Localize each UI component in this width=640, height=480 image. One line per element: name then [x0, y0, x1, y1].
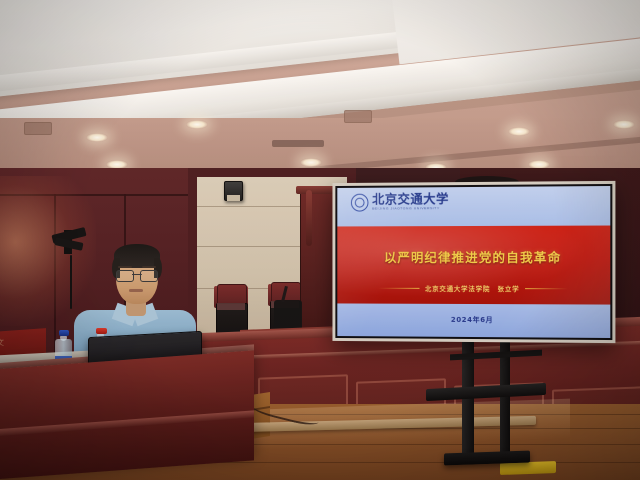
ceiling-speaker-icon — [224, 181, 243, 201]
ceiling-slot — [272, 140, 324, 147]
display-bezel: 北京交通大学 BEIJING JIAOTONG UNIVERSITY 以严明纪律… — [335, 184, 612, 340]
eyeglasses-icon — [116, 270, 158, 280]
presenter-eyebrow — [118, 266, 132, 268]
presenter-eyebrow — [142, 266, 156, 268]
downlight-icon — [186, 120, 208, 129]
downlight-icon — [508, 127, 530, 136]
slide-subtitle-row: 北京交通大学法学院 张立学 — [337, 283, 610, 294]
hanging-cable — [70, 255, 72, 309]
downlight-icon — [300, 158, 322, 167]
air-vent-icon — [24, 122, 52, 135]
university-name-cn: 北京交通大学 — [372, 193, 449, 206]
downlight-icon — [86, 133, 108, 142]
university-name-en: BEIJING JIAOTONG UNIVERSITY — [372, 208, 449, 211]
university-logo: 北京交通大学 BEIJING JIAOTONG UNIVERSITY — [351, 193, 449, 211]
downlight-icon — [613, 120, 635, 129]
slide-title: 以严明纪律推进党的自我革命 — [337, 247, 610, 266]
bottle-cap — [96, 328, 107, 334]
presentation-slide: 北京交通大学 BEIJING JIAOTONG UNIVERSITY 以严明纪律… — [337, 186, 610, 338]
glasses-lens — [116, 270, 134, 282]
presenter-mouth — [129, 289, 143, 292]
tv-stand-pole — [500, 342, 510, 454]
wall-display[interactable]: 北京交通大学 BEIJING JIAOTONG UNIVERSITY 以严明纪律… — [332, 181, 615, 343]
bottle-cap — [59, 330, 69, 336]
subtitle-rule-right — [526, 288, 568, 289]
photo-scene: 北京交通大学 BEIJING JIAOTONG UNIVERSITY 以严明纪律… — [0, 0, 640, 480]
slide-subtitle: 北京交通大学法学院 张立学 — [425, 283, 520, 293]
subtitle-rule-left — [378, 287, 419, 288]
judge-bench-column — [306, 190, 312, 246]
slide-date: 2024年6月 — [337, 314, 610, 326]
chair-cushion — [217, 303, 245, 310]
university-seal-icon — [351, 194, 369, 212]
ceiling — [0, 0, 640, 176]
banner-text: 文 — [0, 337, 4, 349]
glasses-lens — [140, 270, 158, 282]
air-vent-icon — [344, 110, 372, 123]
